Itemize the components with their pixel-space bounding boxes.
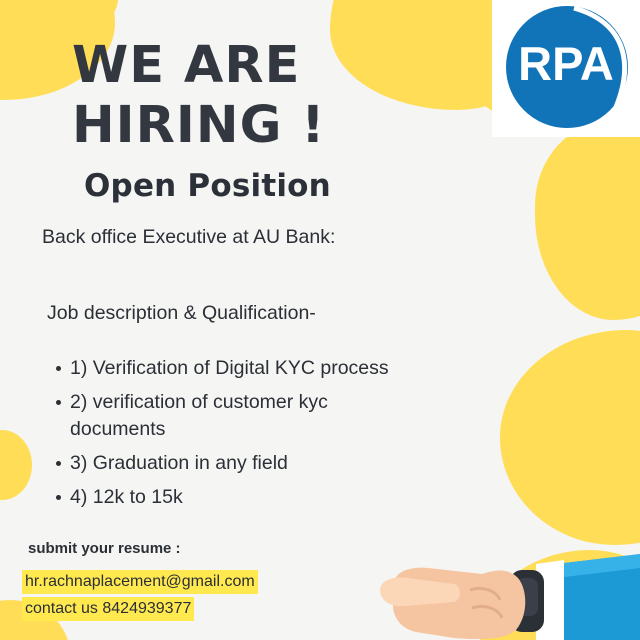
- headline-line-2: HIRING !: [72, 96, 325, 156]
- subheading-open-position: Open Position: [84, 168, 331, 204]
- contact-phone[interactable]: contact us 8424939377: [22, 597, 194, 621]
- headline-line-1: WE ARE: [72, 36, 325, 96]
- submit-resume-label: submit your resume :: [28, 540, 181, 557]
- rpa-logo: RPA: [492, 0, 640, 137]
- pointing-hand-icon: [350, 520, 640, 640]
- decorative-blob-right-lower: [500, 330, 640, 545]
- list-item: 3) Graduation in any field: [70, 450, 410, 477]
- hiring-poster: RPA WE ARE HIRING ! Open Position Back o…: [0, 0, 640, 640]
- job-description-heading: Job description & Qualification-: [47, 302, 316, 325]
- list-item: 1) Verification of Digital KYC process: [70, 355, 410, 382]
- decorative-blob-left-small: [0, 430, 32, 500]
- list-item: 4) 12k to 15k: [70, 484, 410, 511]
- position-description: Back office Executive at AU Bank:: [42, 222, 372, 252]
- contact-block: hr.rachnaplacement@gmail.com contact us …: [22, 570, 258, 621]
- list-item: 2) verification of customer kyc document…: [70, 389, 410, 443]
- logo-text: RPA: [492, 40, 640, 87]
- page-title: WE ARE HIRING !: [72, 36, 325, 156]
- decorative-blob-right-middle: [535, 120, 640, 320]
- requirements-list: 1) Verification of Digital KYC process 2…: [48, 355, 410, 518]
- email-address[interactable]: hr.rachnaplacement@gmail.com: [22, 570, 258, 594]
